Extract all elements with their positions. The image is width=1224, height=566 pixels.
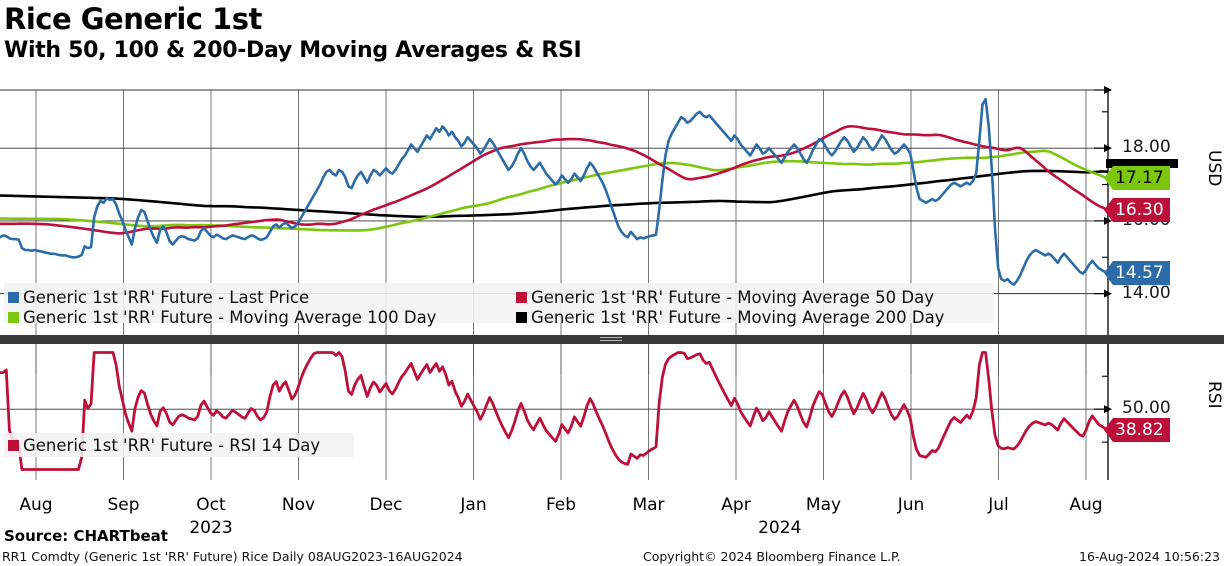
last-price-tag: 14.57	[1104, 261, 1170, 285]
price-axis-unit: USD	[1204, 150, 1224, 186]
legend-color-swatch	[8, 292, 19, 303]
ma50-tag: 16.30	[1104, 198, 1170, 222]
splitter-grip-icon[interactable]	[600, 337, 622, 342]
legend-color-swatch	[8, 312, 19, 323]
legend-color-swatch	[8, 440, 19, 451]
page-subtitle: With 50, 100 & 200-Day Moving Averages &…	[4, 38, 581, 64]
xaxis-tick-sep-1: Sep	[107, 495, 139, 515]
timestamp-label: 16-Aug-2024 10:56:23	[1079, 549, 1220, 564]
legend-item-ma200[interactable]: Generic 1st 'RR' Future - Moving Average…	[516, 308, 944, 327]
price-tick-14: 14.00	[1122, 283, 1171, 303]
xaxis-tick-apr-8: Apr	[721, 495, 750, 515]
chart-plot-area[interactable]: 18.0016.0014.0050.00USDRSI17.1716.3014.5…	[0, 85, 1224, 480]
xaxis-tick-mar-7: Mar	[632, 495, 664, 515]
legend-label: Generic 1st 'RR' Future - RSI 14 Day	[23, 436, 320, 455]
xaxis-tick-aug-12: Aug	[1069, 495, 1102, 515]
tag-pointer	[1104, 166, 1113, 190]
tag-pointer	[1104, 418, 1113, 442]
tag-value: 16.30	[1113, 198, 1170, 222]
price-tick-18: 18.00	[1122, 137, 1171, 157]
rsi-tick-50: 50.00	[1122, 398, 1171, 418]
xaxis-year-2024: 2024	[758, 518, 801, 538]
xaxis-tick-nov-3: Nov	[282, 495, 315, 515]
tag-pointer	[1104, 261, 1113, 285]
xaxis-tick-aug-0: Aug	[19, 495, 52, 515]
legend-item-last-price[interactable]: Generic 1st 'RR' Future - Last Price	[8, 288, 309, 307]
panel-splitter[interactable]	[0, 335, 1224, 344]
tag-value: 38.82	[1113, 418, 1170, 442]
tag-value: 14.57	[1113, 261, 1170, 285]
xaxis-tick-jan-5: Jan	[460, 495, 486, 515]
legend-label: Generic 1st 'RR' Future - Moving Average…	[531, 288, 934, 307]
legend-color-swatch	[516, 292, 527, 303]
page-title: Rice Generic 1st	[4, 2, 262, 36]
xaxis-tick-may-9: May	[806, 495, 841, 515]
rsi-axis-unit: RSI	[1204, 381, 1224, 409]
security-description: RR1 Comdty (Generic 1st 'RR' Future) Ric…	[2, 549, 463, 564]
copyright-notice: Copyright© 2024 Bloomberg Finance L.P.	[643, 549, 901, 564]
source-label: Source: CHARTbeat	[4, 527, 168, 545]
xaxis-tick-jul-11: Jul	[988, 495, 1009, 515]
rsi-tag: 38.82	[1104, 418, 1170, 442]
legend-label: Generic 1st 'RR' Future - Moving Average…	[23, 308, 436, 327]
xaxis-tick-jun-10: Jun	[898, 495, 925, 515]
legend-item-rsi14[interactable]: Generic 1st 'RR' Future - RSI 14 Day	[8, 436, 320, 455]
xaxis-year-2023: 2023	[189, 518, 232, 538]
legend-label: Generic 1st 'RR' Future - Last Price	[23, 288, 309, 307]
xaxis-tick-dec-4: Dec	[370, 495, 403, 515]
ma100-tag: 17.17	[1104, 166, 1170, 190]
xaxis-tick-oct-2: Oct	[196, 495, 225, 515]
legend-color-swatch	[516, 312, 527, 323]
tag-pointer	[1104, 198, 1113, 222]
xaxis-tick-feb-6: Feb	[546, 495, 576, 515]
legend-label: Generic 1st 'RR' Future - Moving Average…	[531, 308, 944, 327]
tag-value: 17.17	[1113, 166, 1170, 190]
legend-item-ma100[interactable]: Generic 1st 'RR' Future - Moving Average…	[8, 308, 436, 327]
legend-item-ma50[interactable]: Generic 1st 'RR' Future - Moving Average…	[516, 288, 934, 307]
